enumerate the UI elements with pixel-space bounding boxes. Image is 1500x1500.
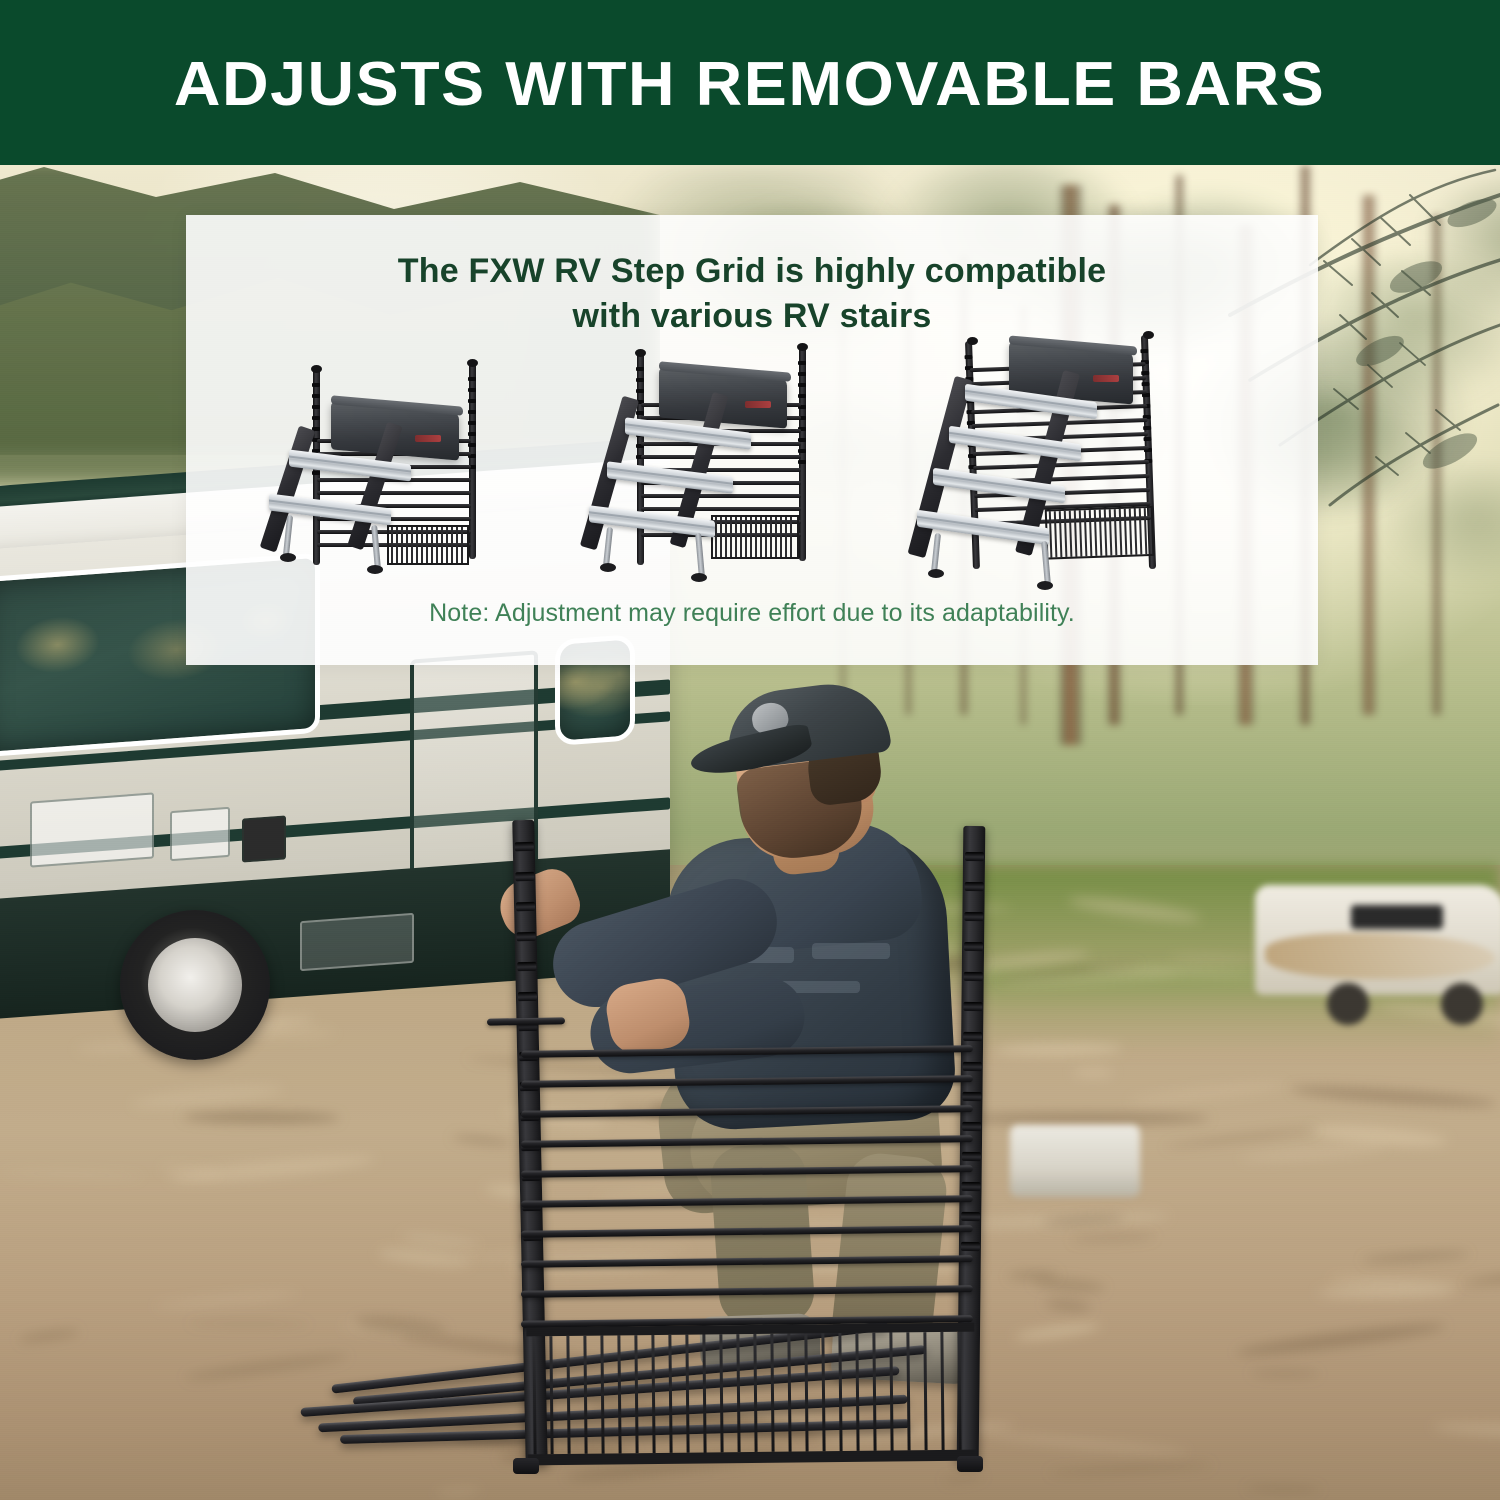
grid-mesh-panel [526,1323,975,1466]
header-banner: ADJUSTS WITH REMOVABLE BARS [0,0,1500,165]
card-title-line1: The FXW RV Step Grid is highly compatibl… [398,249,1106,294]
product-config-3-step [587,343,897,593]
rv-step-grid-product [505,820,1005,1485]
card-note: Note: Adjustment may require effort due … [429,599,1075,628]
card-title: The FXW RV Step Grid is highly compatibl… [398,249,1106,339]
product-config-2-step [261,353,561,593]
background-truck [1010,1125,1140,1197]
product-config-4-step [923,335,1243,593]
grid-foot-right [957,1456,983,1472]
card-title-line2: with various RV stairs [398,294,1106,339]
grid-foot-left [513,1458,539,1474]
banner-title: ADJUSTS WITH REMOVABLE BARS [174,54,1325,116]
background-rv [1255,855,1500,1035]
product-configurations [186,343,1318,593]
product-marketing-image: ADJUSTS WITH REMOVABLE BARS The FXW RV S… [0,0,1500,1500]
info-card: The FXW RV Step Grid is highly compatibl… [186,215,1318,665]
